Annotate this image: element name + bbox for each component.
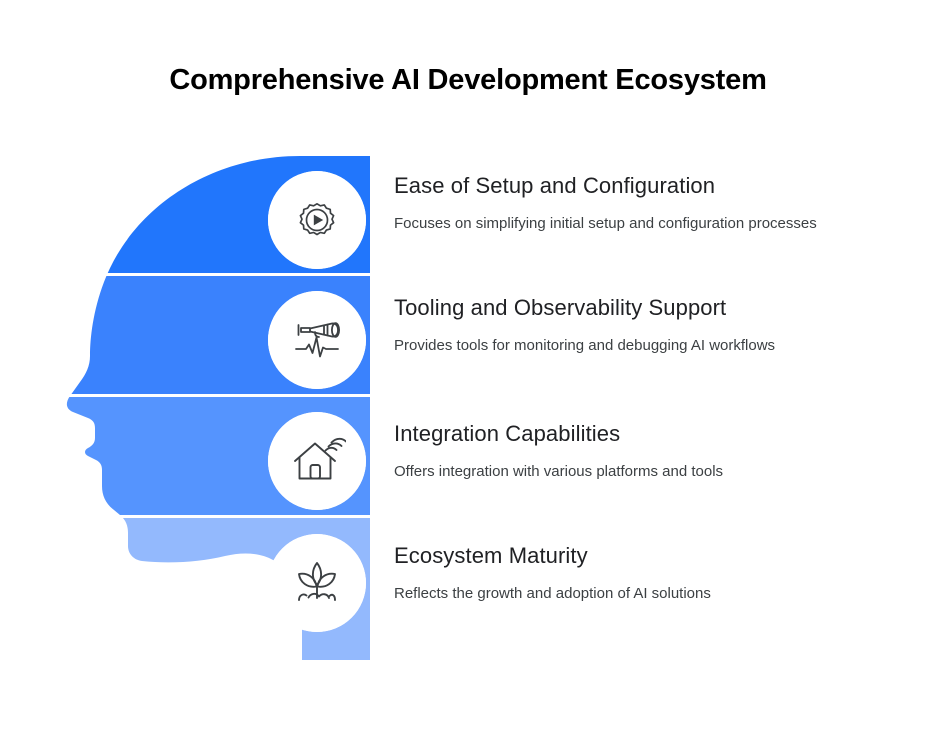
smart-home-wifi-icon	[288, 432, 346, 490]
telescope-pulse-icon	[288, 311, 346, 369]
infographic-slide: Comprehensive AI Development Ecosystem	[0, 0, 936, 739]
feature-icon-badge-1	[275, 178, 359, 262]
feature-item-1: Ease of Setup and Configuration Focuses …	[394, 172, 846, 235]
feature-item-2: Tooling and Observability Support Provid…	[394, 294, 846, 357]
feature-title-4: Ecosystem Maturity	[394, 542, 846, 571]
feature-description-1: Focuses on simplifying initial setup and…	[394, 213, 844, 236]
feature-title-3: Integration Capabilities	[394, 420, 846, 449]
sprout-growth-icon	[289, 555, 345, 611]
page-title: Comprehensive AI Development Ecosystem	[0, 62, 936, 98]
gear-play-icon	[289, 192, 345, 248]
feature-description-4: Reflects the growth and adoption of AI s…	[394, 583, 846, 606]
feature-icon-badge-4	[275, 541, 359, 625]
feature-icon-badge-3	[275, 419, 359, 503]
feature-description-2: Provides tools for monitoring and debugg…	[394, 335, 844, 358]
feature-icon-badge-2	[275, 298, 359, 382]
feature-item-3: Integration Capabilities Offers integrat…	[394, 420, 846, 483]
feature-description-3: Offers integration with various platform…	[394, 461, 846, 484]
feature-title-2: Tooling and Observability Support	[394, 294, 846, 323]
feature-title-1: Ease of Setup and Configuration	[394, 172, 846, 201]
feature-item-4: Ecosystem Maturity Reflects the growth a…	[394, 542, 846, 605]
